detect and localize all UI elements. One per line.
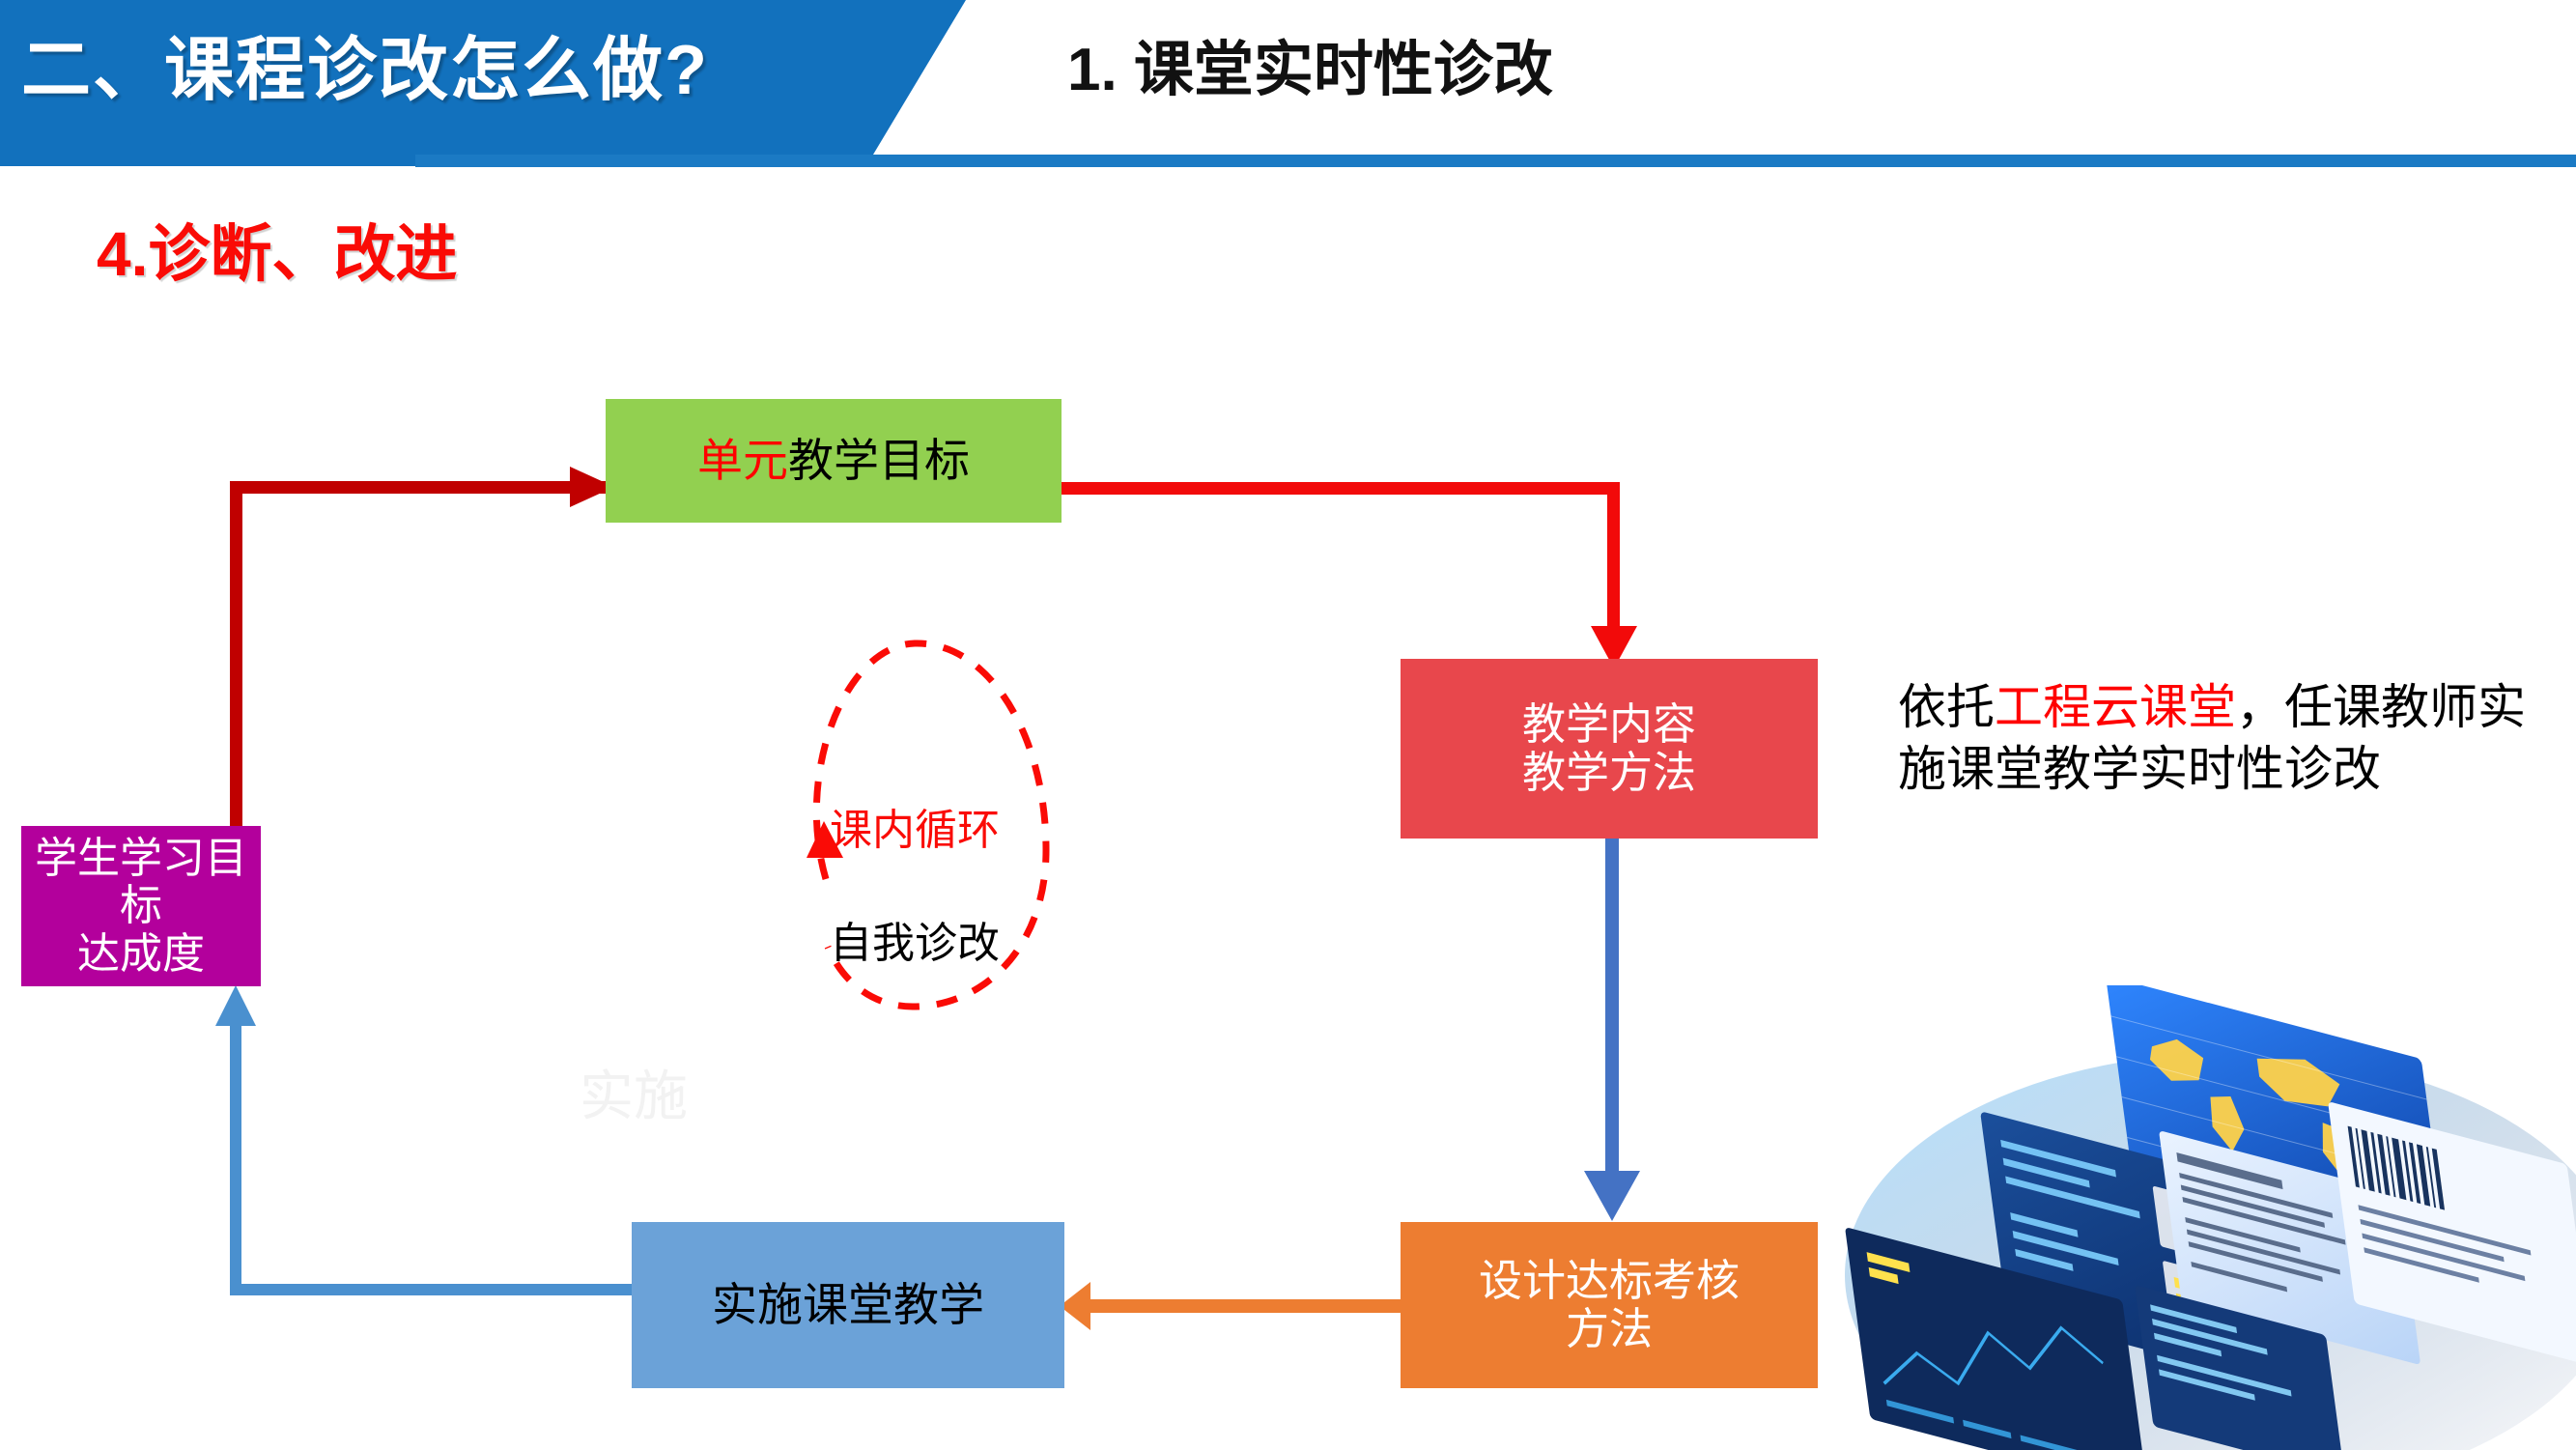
decorative-tech-collage-image [1816,985,2576,1450]
node-content-method-line2: 教学方法 [1522,749,1696,797]
node-student-goal-attainment[interactable]: 学生学习目标 达成度 [21,826,261,986]
node-assessment-design-line2: 方法 [1479,1305,1740,1353]
node-unit-goal-rest: 教学目标 [788,435,970,486]
loop-label-inner-cycle: 课内循环 [784,795,1045,857]
node-assessment-design-line1: 设计达标考核 [1479,1257,1740,1305]
connector-student-to-unit-vertical [230,488,242,828]
slide-canvas: 二、课程诊改怎么做? 1. 课堂实时性诊改 4.诊断、改进 课内循环 自我诊改 … [0,0,2576,1450]
node-student-goal-label: 学生学习目标 达成度 [21,835,261,978]
node-implement-teaching-label: 实施课堂教学 [712,1280,984,1331]
node-unit-goal-highlight: 单元 [697,435,788,486]
header-divider-rule [415,155,2576,167]
node-content-method[interactable]: 教学内容 教学方法 [1401,659,1818,839]
node-implement-teaching[interactable]: 实施课堂教学 [632,1222,1064,1388]
connector-student-to-unit-horizontal [230,481,611,494]
arrowhead-to-student-goal [215,985,256,1026]
connector-implement-to-student-horizontal [230,1284,643,1295]
connector-implement-to-student-vertical [230,1024,241,1294]
watermark-text: 实施 [580,1053,688,1131]
header-banner-foot [0,145,444,166]
loop-label-self-diagnosis: 自我诊改 [784,908,1045,970]
side-note-paragraph: 依托工程云课堂，任课教师实施课堂教学实时性诊改 [1898,676,2564,800]
node-student-goal-line2: 达成度 [21,930,261,978]
node-assessment-design-label: 设计达标考核 方法 [1479,1257,1740,1354]
connector-assessment-to-implement [1084,1299,1404,1313]
page-heading: 4.诊断、改进 [97,205,457,294]
side-note-highlight: 工程云课堂 [1995,680,2236,734]
connector-unit-to-content-horizontal [1062,482,1620,495]
side-note-part1: 依托 [1898,680,1995,734]
section-title: 1. 课堂实时性诊改 [1067,27,1937,114]
node-assessment-design[interactable]: 设计达标考核 方法 [1401,1222,1818,1388]
node-unit-goal-label: 单元教学目标 [697,436,970,487]
chapter-title: 二、课程诊改怎么做? [21,17,891,124]
node-content-method-line1: 教学内容 [1522,700,1696,749]
node-unit-goal[interactable]: 单元教学目标 [606,399,1062,523]
node-content-method-label: 教学内容 教学方法 [1522,700,1696,798]
node-student-goal-line1: 学生学习目标 [21,835,261,930]
arrowhead-to-assessment-design [1584,1171,1640,1221]
connector-unit-to-content-vertical [1607,482,1620,648]
connector-content-to-assessment [1605,839,1619,1186]
